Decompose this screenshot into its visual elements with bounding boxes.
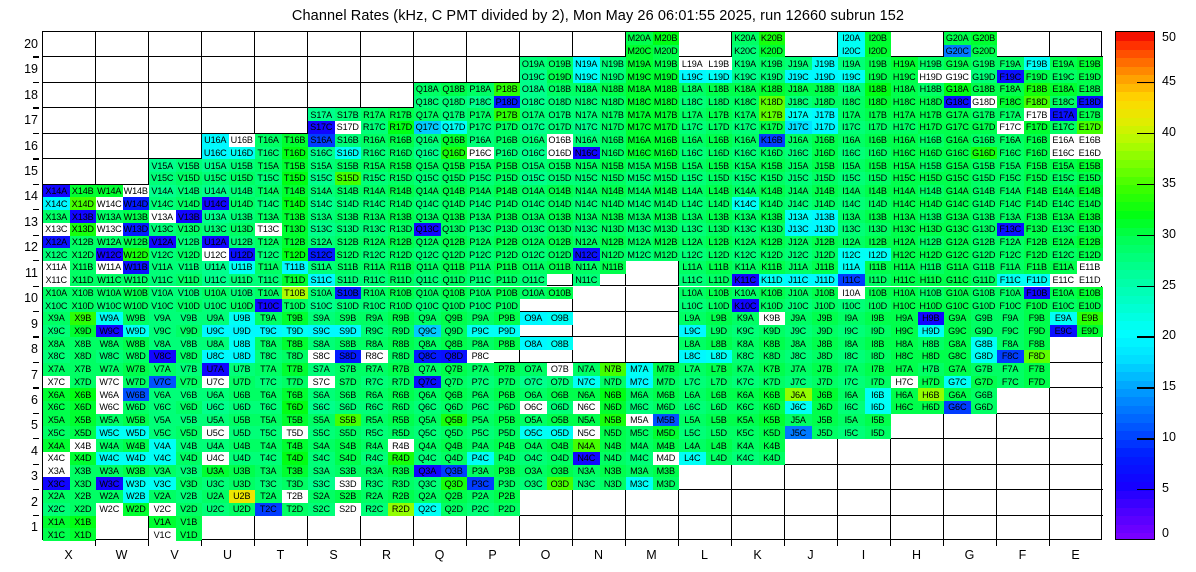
heatmap-subcell: O14A	[520, 185, 547, 198]
heatmap-cell: R8AR8BR8CR8D	[361, 337, 414, 362]
heatmap-cell: L8AL8BL8CL8D	[679, 337, 732, 362]
heatmap-subcell: U3B	[229, 465, 256, 478]
heatmap-subcell: R13C	[361, 223, 388, 236]
heatmap-subcell: E11D	[1077, 274, 1104, 287]
heatmap-subcell: F10C	[997, 299, 1024, 312]
heatmap-subcell: G15A	[944, 159, 971, 172]
heatmap-cell: V6AV6BV6CV6D	[149, 388, 202, 413]
heatmap-cell: N15AN15BN15CN15D	[573, 159, 626, 184]
heatmap-subcell: L11A	[679, 261, 706, 274]
heatmap-subcell: T12A	[255, 236, 282, 249]
heatmap-cell: R2AR2BR2CR2D	[361, 490, 414, 515]
heatmap-subcell: V13C	[149, 223, 176, 236]
heatmap-subcell: S2B	[335, 490, 362, 503]
heatmap-subcell: O5D	[547, 426, 574, 439]
heatmap-subcell: L10D	[706, 299, 733, 312]
heatmap-subcell: L4A	[679, 439, 706, 452]
heatmap-subcell: V11B	[176, 261, 203, 274]
heatmap-subcell: N4A	[573, 439, 600, 452]
heatmap-subcell: T12D	[282, 248, 309, 261]
heatmap-cell: W7AW7BW7CW7D	[96, 363, 149, 388]
heatmap-cell	[43, 159, 96, 184]
heatmap-subcell: I7A	[838, 363, 865, 376]
page-title: Channel Rates (kHz, C PMT divided by 2),…	[0, 8, 1196, 24]
heatmap-subcell: W12D	[123, 248, 150, 261]
heatmap-subcell: W5C	[96, 426, 123, 439]
heatmap-cell: T9AT9BT9CT9D	[255, 312, 308, 337]
heatmap-cell: I18AI18BI18CI18D	[838, 83, 891, 108]
heatmap-subcell: H14D	[918, 197, 945, 210]
colorbar-segment	[1116, 287, 1154, 296]
heatmap-subcell: Q13D	[441, 223, 468, 236]
heatmap-cell: O15AO15BO15CO15D	[520, 159, 573, 184]
heatmap-subcell: Q11B	[441, 261, 468, 274]
heatmap-subcell: P12C	[467, 248, 494, 261]
heatmap-subcell: S15B	[335, 159, 362, 172]
colorbar-segment	[1116, 100, 1154, 109]
heatmap-cell: R16AR16BR16CR16D	[361, 134, 414, 159]
heatmap-subcell: S3B	[335, 465, 362, 478]
heatmap-cell: U3AU3BU3CU3D	[202, 465, 255, 490]
heatmap-subcell: R13D	[388, 223, 415, 236]
heatmap-subcell: R4B	[388, 439, 415, 452]
heatmap-subcell: P11B	[494, 261, 521, 274]
heatmap-cell: E9AE9BE9CE9D	[1050, 312, 1103, 337]
heatmap-cell	[149, 83, 202, 108]
heatmap-subcell: P12D	[494, 248, 521, 261]
heatmap-subcell: W14C	[96, 197, 123, 210]
heatmap-subcell: O16B	[547, 134, 574, 147]
heatmap-subcell: E15C	[1050, 172, 1077, 185]
heatmap-subcell: F18D	[1024, 96, 1051, 109]
heatmap-subcell: S15A	[308, 159, 335, 172]
heatmap-cell: Q15AQ15BQ15CQ15D	[414, 159, 467, 184]
heatmap-subcell: H19D	[918, 70, 945, 83]
colorbar-tick	[1137, 387, 1155, 388]
heatmap-cell	[838, 439, 891, 464]
heatmap-cell: M17AM17BM17CM17D	[626, 108, 679, 133]
heatmap-cell: R13AR13BR13CR13D	[361, 210, 414, 235]
heatmap-subcell: X14D	[70, 197, 97, 210]
heatmap-subcell: L8A	[679, 337, 706, 350]
heatmap-cell	[997, 439, 1050, 464]
heatmap-cell: U2AU2BU2CU2D	[202, 490, 255, 515]
heatmap-subcell: P5A	[467, 414, 494, 427]
heatmap-cell: I20AI20BI20CI20D	[838, 32, 891, 57]
heatmap-subcell: I19D	[865, 70, 892, 83]
colorbar-segment	[1116, 40, 1154, 49]
heatmap-subcell: J17A	[785, 108, 812, 121]
heatmap-subcell: F19A	[997, 57, 1024, 70]
heatmap-subcell: O7D	[547, 376, 574, 389]
y-axis-label: 13	[4, 216, 38, 229]
heatmap-subcell: S7C	[308, 376, 335, 389]
heatmap-subcell: U2C	[202, 503, 229, 516]
heatmap-subcell: O5B	[547, 414, 574, 427]
heatmap-subcell: P10C	[467, 299, 494, 312]
heatmap-subcell: S2C	[308, 503, 335, 516]
heatmap-subcell: V11D	[176, 274, 203, 287]
heatmap-cell: M15AM15BM15CM15D	[626, 159, 679, 184]
heatmap-cell: R10AR10BR10CR10D	[361, 287, 414, 312]
heatmap-cell: F7AF7BF7CF7D	[997, 363, 1050, 388]
heatmap-subcell: V1B	[176, 516, 203, 529]
heatmap-subcell: I19C	[838, 70, 865, 83]
heatmap-subcell: K6A	[732, 388, 759, 401]
heatmap-subcell: T7B	[282, 363, 309, 376]
heatmap-subcell: W14B	[123, 185, 150, 198]
heatmap-subcell: P7C	[467, 376, 494, 389]
y-axis-tick	[33, 184, 39, 185]
heatmap-subcell: I17D	[865, 121, 892, 134]
colorbar-segment	[1116, 49, 1154, 58]
heatmap-cell	[308, 83, 361, 108]
heatmap-subcell: F17A	[997, 108, 1024, 121]
heatmap-subcell: N5C	[573, 426, 600, 439]
heatmap-cell: T11AT11BT11CT11D	[255, 261, 308, 286]
heatmap-subcell: G18D	[971, 96, 998, 109]
y-axis-tick	[33, 209, 39, 210]
x-axis-tick	[466, 540, 467, 546]
heatmap-cell: H14AH14BH14CH14D	[891, 185, 944, 210]
heatmap-subcell: T15C	[255, 172, 282, 185]
heatmap-subcell: H7D	[918, 376, 945, 389]
heatmap-subcell: I16B	[865, 134, 892, 147]
heatmap-cell: S14AS14BS14CS14D	[308, 185, 361, 210]
heatmap-subcell: S17B	[335, 108, 362, 121]
heatmap-cell: Q3AQ3BQ3CQ3D	[414, 465, 467, 490]
heatmap-subcell: L8B	[706, 337, 733, 350]
heatmap-subcell: N17B	[600, 108, 627, 121]
heatmap-subcell: T9D	[282, 325, 309, 338]
heatmap-cell: O10AO10B	[520, 287, 573, 312]
heatmap-subcell: X10A	[43, 287, 70, 300]
y-axis-tick	[33, 286, 39, 287]
heatmap-subcell: O12D	[547, 248, 574, 261]
heatmap-subcell: E19D	[1077, 70, 1104, 83]
heatmap-subcell: L15B	[706, 159, 733, 172]
heatmap-cell	[308, 516, 361, 541]
heatmap-subcell: I10A	[838, 287, 865, 300]
heatmap-cell: K16AK16BK16CK16D	[732, 134, 785, 159]
heatmap-subcell: R15B	[388, 159, 415, 172]
heatmap-subcell: U10B	[229, 287, 256, 300]
colorbar-segment	[1116, 236, 1154, 245]
heatmap-subcell: U14B	[229, 185, 256, 198]
heatmap-subcell: M16A	[626, 134, 653, 147]
heatmap-cell: U13AU13BU13CU13D	[202, 210, 255, 235]
heatmap-subcell: U8C	[202, 350, 229, 363]
heatmap-subcell: O10A	[520, 287, 547, 300]
heatmap-subcell: J14D	[812, 197, 839, 210]
heatmap-subcell: U15C	[202, 172, 229, 185]
heatmap-cell: F10AF10BF10CF10D	[997, 287, 1050, 312]
heatmap-subcell: L8D	[706, 350, 733, 363]
heatmap-cell: Q13AQ13BQ13CQ13D	[414, 210, 467, 235]
heatmap-subcell: S16D	[335, 147, 362, 160]
heatmap-subcell: X11B	[70, 261, 97, 274]
heatmap-subcell: K13B	[759, 210, 786, 223]
heatmap-cell	[944, 490, 997, 515]
heatmap-subcell: S14D	[335, 197, 362, 210]
heatmap-cell: I6AI6BI6CI6D	[838, 388, 891, 413]
heatmap-subcell: H8A	[891, 337, 918, 350]
heatmap-cell: L4AL4BL4CL4D	[679, 439, 732, 464]
heatmap-cell: O8AO8B	[520, 337, 573, 362]
heatmap-subcell: K11A	[732, 261, 759, 274]
heatmap-subcell: I14B	[865, 185, 892, 198]
heatmap-subcell: Q12D	[441, 248, 468, 261]
heatmap-subcell: F12C	[997, 248, 1024, 261]
heatmap-subcell: L15D	[706, 172, 733, 185]
heatmap-cell: N5AN5BN5CN5D	[573, 414, 626, 439]
heatmap-subcell: O13A	[520, 210, 547, 223]
heatmap-subcell: V4D	[176, 452, 203, 465]
heatmap-subcell: S12B	[335, 236, 362, 249]
heatmap-subcell: X14A	[43, 185, 70, 198]
heatmap-subcell: U14D	[229, 197, 256, 210]
heatmap-subcell: Q2D	[441, 503, 468, 516]
heatmap-subcell: K14D	[759, 197, 786, 210]
heatmap-cell	[573, 312, 626, 337]
heatmap-subcell: U7B	[229, 363, 256, 376]
heatmap-subcell: J11A	[785, 261, 812, 274]
heatmap-cell	[679, 32, 732, 57]
heatmap-subcell: T4D	[282, 452, 309, 465]
colorbar-segment	[1116, 108, 1154, 117]
heatmap-subcell: F8D	[1024, 350, 1051, 363]
heatmap-cell: N7AN7BN7CN7D	[573, 363, 626, 388]
heatmap-subcell: Q2A	[414, 490, 441, 503]
heatmap-subcell: Q11D	[441, 274, 468, 287]
heatmap-subcell: F9A	[997, 312, 1024, 325]
heatmap-cell: U6AU6BU6CU6D	[202, 388, 255, 413]
heatmap-subcell: U10C	[202, 299, 229, 312]
heatmap-subcell: K20C	[732, 45, 759, 58]
heatmap-subcell: T6C	[255, 401, 282, 414]
heatmap-subcell: G13B	[971, 210, 998, 223]
heatmap-subcell: F12A	[997, 236, 1024, 249]
heatmap-subcell: V14B	[176, 185, 203, 198]
heatmap-subcell: U15A	[202, 159, 229, 172]
heatmap-subcell: W13B	[123, 210, 150, 223]
heatmap-cell	[43, 134, 96, 159]
heatmap-subcell: F14C	[997, 197, 1024, 210]
heatmap-subcell: L12B	[706, 236, 733, 249]
colorbar-labels: 05101520253035404550	[1158, 31, 1196, 540]
heatmap-subcell: R9D	[388, 325, 415, 338]
heatmap-subcell: V10B	[176, 287, 203, 300]
heatmap-cell: F18AF18BF18CF18D	[997, 83, 1050, 108]
heatmap-subcell: W4B	[123, 439, 150, 452]
heatmap-subcell: M7B	[653, 363, 680, 376]
heatmap-cell: L17AL17BL17CL17D	[679, 108, 732, 133]
heatmap-cell: M18AM18BM18CM18D	[626, 83, 679, 108]
heatmap-subcell: I15B	[865, 159, 892, 172]
heatmap-subcell: K12A	[732, 236, 759, 249]
heatmap-cell: V7AV7BV7CV7D	[149, 363, 202, 388]
heatmap-subcell: Q7A	[414, 363, 441, 376]
heatmap-subcell: O11C	[520, 274, 547, 287]
heatmap-subcell: R17D	[388, 121, 415, 134]
heatmap-subcell: F7A	[997, 363, 1024, 376]
heatmap-subcell: M19D	[653, 70, 680, 83]
heatmap-subcell: H12A	[891, 236, 918, 249]
heatmap-cell: X3AX3BX3CX3D	[43, 465, 96, 490]
heatmap-subcell: P18D	[494, 96, 521, 109]
heatmap-subcell: W12C	[96, 248, 123, 261]
heatmap-subcell: W11A	[96, 261, 123, 274]
x-axis-tick	[890, 540, 891, 546]
heatmap-subcell: G18B	[971, 83, 998, 96]
heatmap-cell: G14AG14BG14CG14D	[944, 185, 997, 210]
colorbar-segment	[1116, 439, 1154, 448]
heatmap-cell: M14AM14BM14CM14D	[626, 185, 679, 210]
heatmap-subcell: N4D	[600, 452, 627, 465]
heatmap-subcell: R10C	[361, 299, 388, 312]
heatmap-subcell: X7D	[70, 376, 97, 389]
colorbar-tick	[1137, 489, 1155, 490]
heatmap-subcell: T3B	[282, 465, 309, 478]
heatmap-subcell: G15D	[971, 172, 998, 185]
heatmap-subcell: J13A	[785, 210, 812, 223]
heatmap-subcell: J8A	[785, 337, 812, 350]
heatmap-subcell: T7A	[255, 363, 282, 376]
heatmap-subcell: T8C	[255, 350, 282, 363]
heatmap-subcell: H10D	[918, 299, 945, 312]
heatmap-cell	[43, 57, 96, 82]
heatmap-subcell: O13C	[520, 223, 547, 236]
heatmap-subcell: V5B	[176, 414, 203, 427]
heatmap-subcell: E18C	[1050, 96, 1077, 109]
heatmap-subcell: I10C	[838, 299, 865, 312]
heatmap-subcell: J11B	[812, 261, 839, 274]
y-axis-label: 14	[4, 190, 38, 203]
heatmap-subcell: W8A	[96, 337, 123, 350]
heatmap-subcell: E19A	[1050, 57, 1077, 70]
heatmap-cell	[308, 57, 361, 82]
heatmap-subcell: X14C	[43, 197, 70, 210]
heatmap-subcell: G16D	[971, 147, 998, 160]
colorbar-segment	[1116, 134, 1154, 143]
heatmap-subcell: G8C	[944, 350, 971, 363]
colorbar-segment	[1116, 465, 1154, 474]
colorbar-segment	[1116, 168, 1154, 177]
heatmap-subcell: G7D	[971, 376, 998, 389]
heatmap-subcell: G13D	[971, 223, 998, 236]
heatmap-subcell: O9B	[547, 312, 574, 325]
heatmap-subcell: F9C	[997, 325, 1024, 338]
heatmap-subcell: P10B	[494, 287, 521, 300]
heatmap-subcell: G6D	[971, 401, 998, 414]
heatmap-subcell: T5A	[255, 414, 282, 427]
heatmap-subcell: M17B	[653, 108, 680, 121]
x-axis-tick	[625, 540, 626, 546]
heatmap-subcell: K5A	[732, 414, 759, 427]
heatmap-subcell: K16A	[732, 134, 759, 147]
heatmap-subcell: G17D	[971, 121, 998, 134]
heatmap-subcell: S6B	[335, 388, 362, 401]
heatmap-subcell: S14B	[335, 185, 362, 198]
heatmap-cell: G6AG6BG6CG6D	[944, 388, 997, 413]
heatmap-cell	[944, 439, 997, 464]
heatmap-subcell: M14A	[626, 185, 653, 198]
heatmap-cell: O4AO4BO4CO4D	[520, 439, 573, 464]
heatmap-subcell: G16B	[971, 134, 998, 147]
heatmap-subcell: T8A	[255, 337, 282, 350]
colorbar-segment	[1116, 516, 1154, 525]
heatmap-subcell: W2C	[96, 503, 123, 516]
heatmap-subcell: X9D	[70, 325, 97, 338]
heatmap-cell: G17AG17BG17CG17D	[944, 108, 997, 133]
heatmap-subcell: M7A	[626, 363, 653, 376]
heatmap-subcell: N3C	[573, 477, 600, 490]
heatmap-subcell: L13D	[706, 223, 733, 236]
heatmap-cell: J8AJ8BJ8CJ8D	[785, 337, 838, 362]
heatmap-subcell: Q8A	[414, 337, 441, 350]
heatmap-cell: L16AL16BL16CL16D	[679, 134, 732, 159]
heatmap-cell: O7AO7BO7CO7D	[520, 363, 573, 388]
heatmap-cell: F8AF8BF8CF8D	[997, 337, 1050, 362]
heatmap-subcell: U14A	[202, 185, 229, 198]
y-axis-tick	[33, 489, 39, 490]
heatmap-cell	[149, 57, 202, 82]
heatmap-subcell: F15D	[1024, 172, 1051, 185]
heatmap-subcell: K6B	[759, 388, 786, 401]
heatmap-subcell: O18A	[520, 83, 547, 96]
heatmap-subcell: K8B	[759, 337, 786, 350]
heatmap-subcell: R8A	[361, 337, 388, 350]
heatmap-subcell: F18C	[997, 96, 1024, 109]
heatmap-subcell: L19C	[679, 70, 706, 83]
heatmap-subcell: Q16D	[441, 147, 468, 160]
heatmap-subcell: W11D	[123, 274, 150, 287]
heatmap-subcell: N11C	[573, 274, 600, 287]
heatmap-subcell: I5D	[865, 426, 892, 439]
heatmap-subcell: S10B	[335, 287, 362, 300]
heatmap-subcell: E19C	[1050, 70, 1077, 83]
heatmap-subcell: K7B	[759, 363, 786, 376]
heatmap-subcell: M19B	[653, 57, 680, 70]
heatmap-subcell: R12C	[361, 248, 388, 261]
heatmap-subcell: T5B	[282, 414, 309, 427]
heatmap-subcell: F18B	[1024, 83, 1051, 96]
heatmap-subcell: Q9C	[414, 325, 441, 338]
heatmap-subcell: O17A	[520, 108, 547, 121]
heatmap-subcell: K20B	[759, 32, 786, 45]
heatmap-cell: N12AN12BN12CN12D	[573, 236, 626, 261]
heatmap-subcell: Q8D	[441, 350, 468, 363]
heatmap-cell: O12AO12BO12CO12D	[520, 236, 573, 261]
heatmap-subcell: R16D	[388, 147, 415, 160]
heatmap-subcell: S17C	[308, 121, 335, 134]
heatmap-cell	[361, 32, 414, 57]
heatmap-subcell: H6C	[891, 401, 918, 414]
heatmap-subcell: H11C	[891, 274, 918, 287]
heatmap-subcell: I5A	[838, 414, 865, 427]
heatmap-subcell: Q17B	[441, 108, 468, 121]
heatmap-cell: R15AR15BR15CR15D	[361, 159, 414, 184]
heatmap-subcell: P17D	[494, 121, 521, 134]
heatmap-subcell: X4A	[43, 439, 70, 452]
heatmap-subcell: P9A	[467, 312, 494, 325]
heatmap-cell	[626, 261, 679, 286]
heatmap-cell: U4AU4BU4CU4D	[202, 439, 255, 464]
heatmap-cell: Q9AQ9BQ9CQ9D	[414, 312, 467, 337]
heatmap-cell	[997, 516, 1050, 541]
heatmap-subcell: R13A	[361, 210, 388, 223]
heatmap-cell: K20AK20BK20CK20D	[732, 32, 785, 57]
